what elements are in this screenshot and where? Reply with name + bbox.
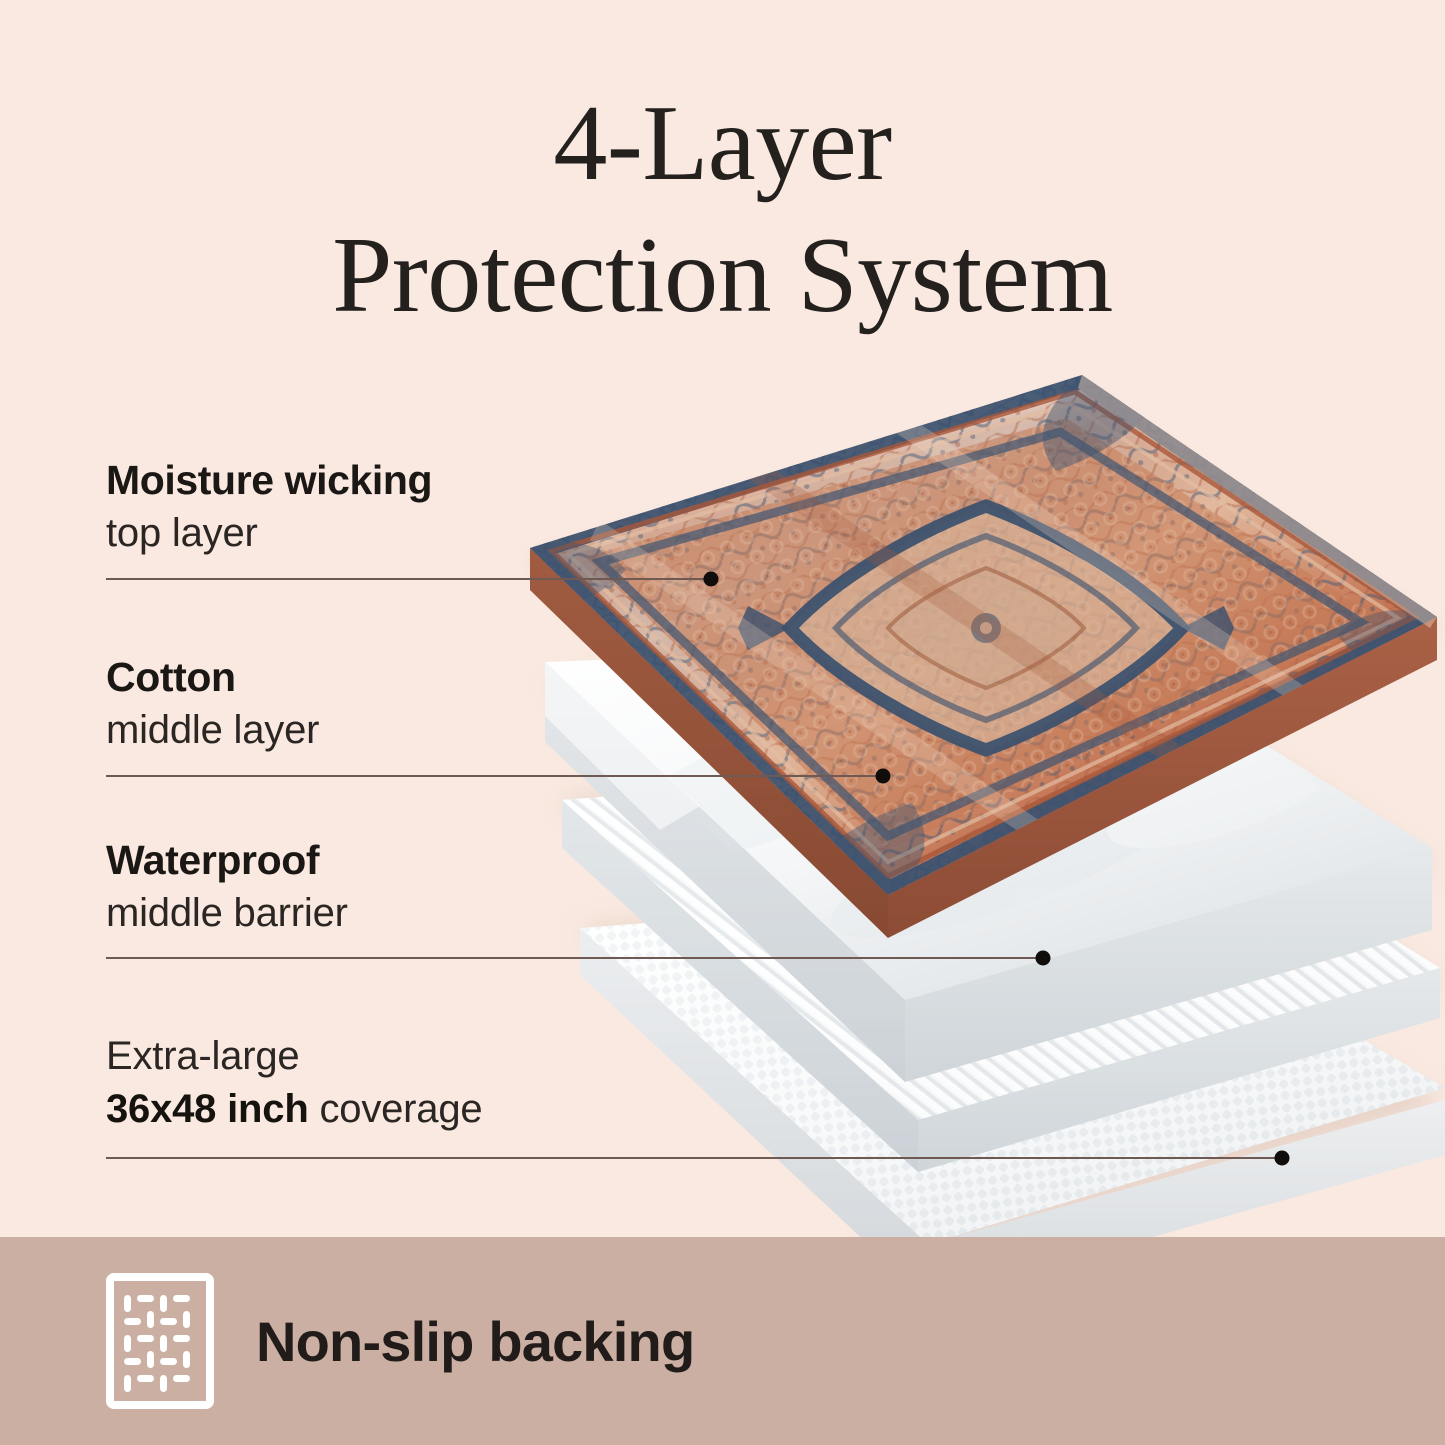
leader-dot-waterproof	[1036, 951, 1051, 966]
callout-title: Moisture wicking	[106, 458, 432, 504]
callout-title: Cotton	[106, 655, 319, 701]
callout-waterproof: Waterproof middle barrier	[106, 838, 348, 937]
layer-waterproof	[562, 758, 1440, 1172]
page-title: 4-Layer Protection System	[0, 78, 1445, 342]
callout-subtitle: middle layer	[106, 707, 319, 754]
callout-subtitle: middle barrier	[106, 890, 348, 937]
leader-dot-extra-large-coverage	[1275, 1151, 1290, 1166]
coverage-word: coverage	[309, 1087, 483, 1131]
non-slip-banner: Non-slip backing	[0, 1237, 1445, 1445]
layer-rug-top	[530, 375, 1437, 938]
infographic-canvas: 4-Layer Protection System	[0, 0, 1445, 1445]
coverage-dimensions: 36x48 inch	[106, 1087, 309, 1131]
layer-cotton	[545, 606, 1434, 1082]
leader-line-moisture-wicking	[106, 578, 711, 580]
non-slip-backing-label: Non-slip backing	[256, 1309, 694, 1374]
callout-moisture-wicking: Moisture wicking top layer	[106, 458, 432, 557]
leader-line-waterproof	[106, 957, 1043, 959]
callout-subtitle-line2: 36x48 inch coverage	[106, 1086, 482, 1133]
basket-weave-icon	[106, 1273, 214, 1409]
banner-content: Non-slip backing	[106, 1237, 694, 1445]
callout-extra-large-coverage: Extra-large 36x48 inch coverage	[106, 1033, 482, 1133]
leader-dot-moisture-wicking	[704, 572, 719, 587]
leader-dot-cotton	[876, 769, 891, 784]
callout-subtitle: top layer	[106, 510, 432, 557]
leader-line-cotton	[106, 775, 883, 777]
leader-line-extra-large-coverage	[106, 1157, 1282, 1159]
callout-cotton: Cotton middle layer	[106, 655, 319, 754]
callout-title: Waterproof	[106, 838, 348, 884]
callout-subtitle-line1: Extra-large	[106, 1033, 482, 1080]
